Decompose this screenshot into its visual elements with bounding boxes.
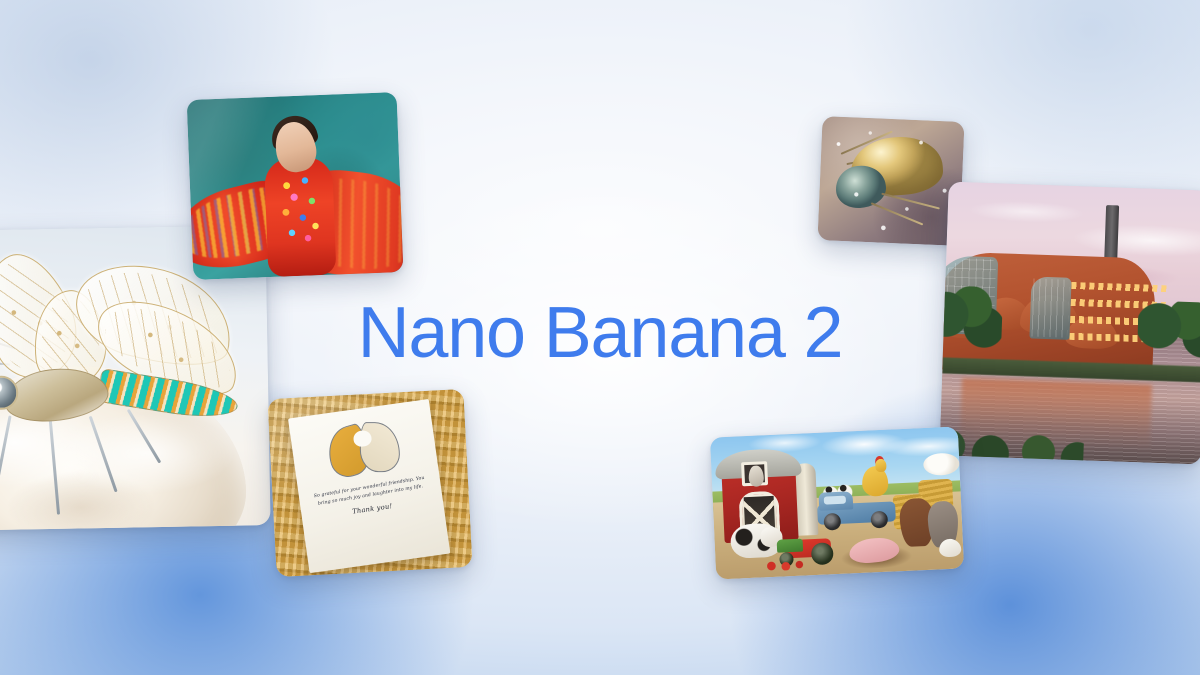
- dew-drops: [817, 116, 964, 246]
- embroidered-bodice: [264, 157, 336, 278]
- gallery-card-beetle[interactable]: [817, 116, 964, 246]
- gallery-card-farm[interactable]: [710, 426, 964, 579]
- folk-dancer-photo: [187, 92, 404, 280]
- claymation-farm-photo: [710, 426, 964, 579]
- pickup-truck: [817, 491, 897, 531]
- goose: [939, 538, 962, 557]
- page-title: Nano Banana 2: [0, 296, 1200, 372]
- gallery-card-dancer[interactable]: [187, 92, 404, 280]
- foreground-grass: [939, 413, 1084, 464]
- golden-beetle-photo: [817, 116, 964, 246]
- thank-you-card-photo: So grateful for your wonderful friendshi…: [267, 389, 472, 577]
- hero-stage: So grateful for your wonderful friendshi…: [0, 0, 1200, 675]
- apples: [766, 559, 806, 571]
- greeting-card-paper: So grateful for your wonderful friendshi…: [288, 399, 450, 573]
- barn-loft-window: [741, 461, 768, 486]
- gallery-card-greeting[interactable]: So grateful for your wonderful friendshi…: [267, 389, 472, 577]
- heart-hands-icon: [325, 420, 404, 482]
